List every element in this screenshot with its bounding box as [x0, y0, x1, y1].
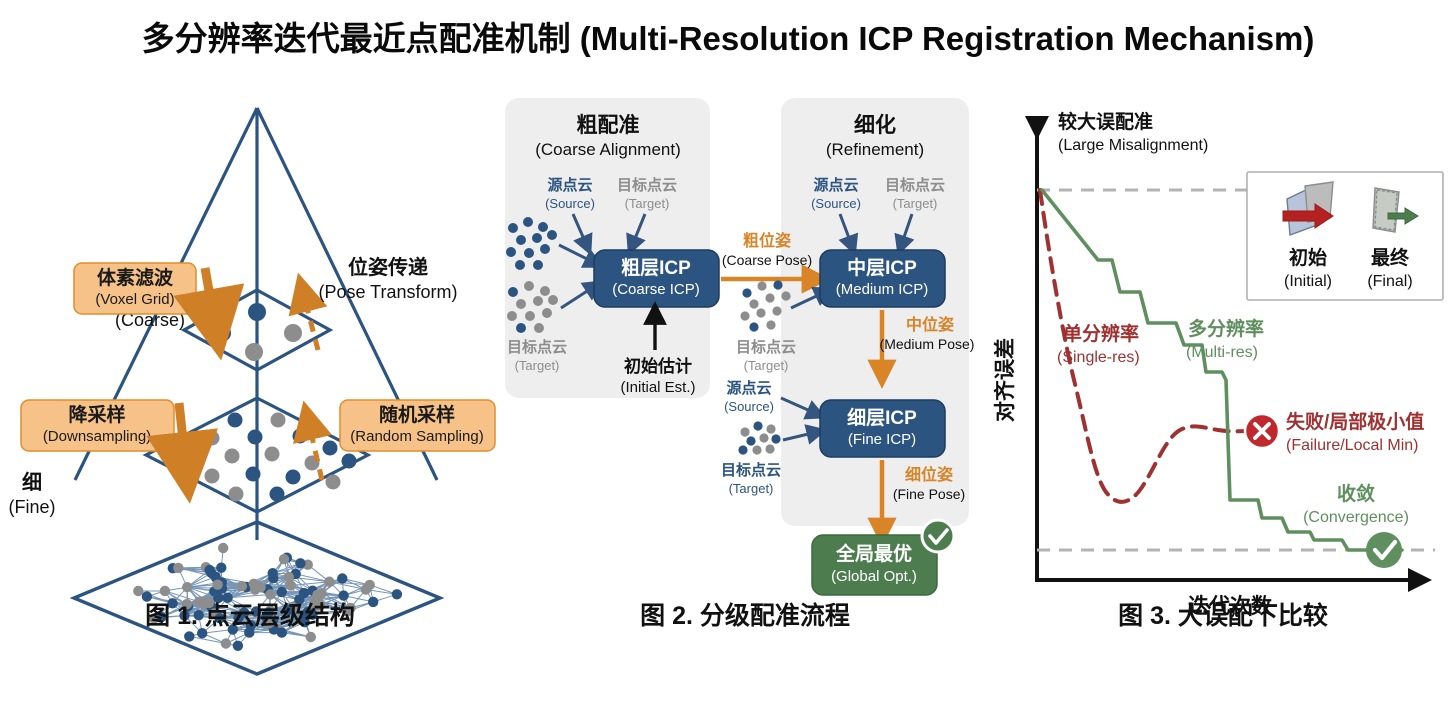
box-global-opt-en: (Global Opt.) — [831, 568, 917, 585]
convergence-en: (Convergence) — [1303, 509, 1409, 526]
initial-estimate-en: (Initial Est.) — [620, 379, 695, 396]
coarse-target-label-bottom: 目标点云 (Target) — [507, 338, 567, 373]
box-coarse-icp[interactable]: 粗层ICP (Coarse ICP) — [594, 250, 719, 307]
box-fine-icp-cn: 细层ICP — [847, 406, 917, 429]
coarse-source-en: (Source) — [545, 196, 595, 211]
fine-source-label: 源点云 (Source) — [724, 379, 774, 414]
medium-target-cn: 目标点云 — [885, 176, 945, 194]
pose-transform-cn: 位姿传递 — [348, 255, 428, 279]
group-coarse-cn: 粗配准 — [577, 114, 640, 137]
tag-voxel-grid: 体素滤波 (Voxel Grid) — [74, 263, 196, 314]
coarse-target2-cn: 目标点云 — [507, 338, 567, 356]
box-coarse-icp-en: (Coarse ICP) — [612, 281, 700, 298]
panel-convergence-chart: 对齐误差 迭代次数 较大误配准 (Large Misalignment) — [990, 80, 1456, 640]
tag-random-sampling: 随机采样 (Random Sampling) — [340, 400, 495, 451]
inset-alignment-example: 初始 (Initial) 最终 (Final) — [1247, 172, 1443, 300]
figure-page: 多分辨率迭代最近点配准机制 (Multi-Resolution ICP Regi… — [0, 0, 1456, 720]
medium-target-en: (Target) — [893, 196, 938, 211]
medium-source-cn: 源点云 — [813, 176, 858, 194]
single-res-cn: 单分辨率 — [1063, 322, 1139, 345]
label-failure-local-min: 失败/局部极小值 (Failure/Local Min) — [1286, 410, 1424, 454]
check-badge-icon — [922, 520, 954, 552]
inset-initial-en: (Initial) — [1284, 273, 1332, 290]
panel-point-cloud-hierarchy: 粗 (Coarse) 中 (Medium) 细 (Fine) 体素滤波 (Vox… — [0, 80, 500, 640]
tag-random-sampling-cn: 随机采样 — [379, 403, 455, 426]
tag-random-sampling-en: (Random Sampling) — [350, 428, 483, 445]
initial-estimate-cn: 初始估计 — [624, 356, 692, 376]
label-convergence: 收敛 (Convergence) — [1303, 482, 1409, 526]
tag-voxel-grid-cn: 体素滤波 — [97, 266, 174, 289]
level-fine-cn: 细 — [22, 470, 42, 494]
coarse-target-en: (Target) — [625, 196, 670, 211]
x-badge-icon — [1245, 414, 1279, 448]
fine-source-cn: 源点云 — [726, 379, 771, 397]
panel2-caption: 图 2. 分级配准流程 — [495, 596, 995, 632]
medium-pose-en: (Medium Pose) — [880, 336, 975, 352]
panel-registration-pipeline: 粗配准 (Coarse Alignment) 细化 (Refinement) 源… — [495, 80, 995, 640]
group-refine-en: (Refinement) — [826, 140, 924, 159]
inset-final-cn: 最终 — [1371, 246, 1410, 269]
box-global-optimum[interactable]: 全局最优 (Global Opt.) — [812, 535, 937, 595]
panel3-caption: 图 3. 大误配下比较 — [990, 596, 1456, 632]
group-refinement-bg — [781, 98, 969, 526]
level-fine-en: (Fine) — [8, 497, 55, 517]
multi-res-cn: 多分辨率 — [1188, 317, 1264, 340]
fine-target-en: (Target) — [729, 481, 774, 496]
y-axis-label: 对齐误差 — [993, 338, 1017, 422]
box-fine-icp-en: (Fine ICP) — [848, 431, 916, 448]
panel1-caption: 图 1. 点云层级结构 — [0, 596, 500, 632]
fine-source-en: (Source) — [724, 399, 774, 414]
large-misalignment-cn: 较大误配准 — [1058, 110, 1153, 133]
coarse-target2-en: (Target) — [515, 358, 560, 373]
tag-downsampling-en: (Downsampling) — [43, 428, 151, 445]
tag-downsampling-cn: 降采样 — [68, 403, 125, 426]
level-label-fine: 细 (Fine) — [8, 470, 55, 517]
medium-target2-cn: 目标点云 — [736, 338, 796, 356]
box-coarse-icp-cn: 粗层ICP — [621, 256, 691, 279]
large-misalignment-en: (Large Misalignment) — [1058, 137, 1208, 154]
page-title: 多分辨率迭代最近点配准机制 (Multi-Resolution ICP Regi… — [0, 12, 1456, 60]
convergence-cn: 收敛 — [1337, 482, 1375, 505]
group-coarse-en: (Coarse Alignment) — [535, 140, 681, 159]
inset-initial-cn: 初始 — [1289, 246, 1327, 269]
note-large-misalignment: 较大误配准 (Large Misalignment) — [1058, 110, 1208, 154]
box-global-opt-cn: 全局最优 — [835, 542, 912, 565]
medium-target2-en: (Target) — [744, 358, 789, 373]
coarse-pose-cn: 粗位姿 — [743, 231, 791, 250]
coarse-target-label-top: 目标点云 (Target) — [617, 176, 677, 211]
convergence-check-icon — [1366, 532, 1402, 568]
medium-target-label-bottom: 目标点云 (Target) — [736, 338, 796, 373]
medium-target-label: 目标点云 (Target) — [885, 176, 945, 211]
pose-transform-en: (Pose Transform) — [318, 282, 457, 302]
box-medium-icp-en: (Medium ICP) — [836, 281, 929, 298]
box-medium-icp-cn: 中层ICP — [847, 256, 917, 279]
box-fine-icp[interactable]: 细层ICP (Fine ICP) — [820, 400, 945, 457]
coarse-source-label: 源点云 (Source) — [545, 176, 595, 211]
coarse-pose-en: (Coarse Pose) — [722, 252, 812, 268]
fine-pose-en: (Fine Pose) — [893, 486, 965, 502]
downsample-arrow-bottom — [179, 403, 186, 468]
failure-en: (Failure/Local Min) — [1286, 437, 1418, 454]
group-refine-cn: 细化 — [854, 113, 896, 137]
medium-source-en: (Source) — [811, 196, 861, 211]
label-single-res: 单分辨率 (Single-res) — [1057, 322, 1140, 366]
coarse-source-cn: 源点云 — [547, 176, 592, 194]
fine-target-cn: 目标点云 — [721, 461, 781, 479]
box-medium-icp[interactable]: 中层ICP (Medium ICP) — [820, 250, 945, 307]
fine-target-label: 目标点云 (Target) — [721, 461, 781, 496]
failure-cn: 失败/局部极小值 — [1286, 410, 1424, 433]
coarse-target-cn: 目标点云 — [617, 176, 677, 194]
single-res-en: (Single-res) — [1057, 349, 1140, 366]
label-multi-res: 多分辨率 (Multi-res) — [1186, 317, 1264, 361]
multi-res-en: (Multi-res) — [1186, 344, 1258, 361]
tag-voxel-grid-en: (Voxel Grid) — [95, 291, 174, 308]
fine-target-cluster — [738, 421, 780, 454]
medium-source-label: 源点云 (Source) — [811, 176, 861, 211]
inset-final-en: (Final) — [1367, 273, 1412, 290]
medium-pose-cn: 中位姿 — [906, 315, 954, 334]
fine-pose-cn: 细位姿 — [905, 465, 953, 484]
tag-downsampling: 降采样 (Downsampling) — [21, 400, 174, 451]
